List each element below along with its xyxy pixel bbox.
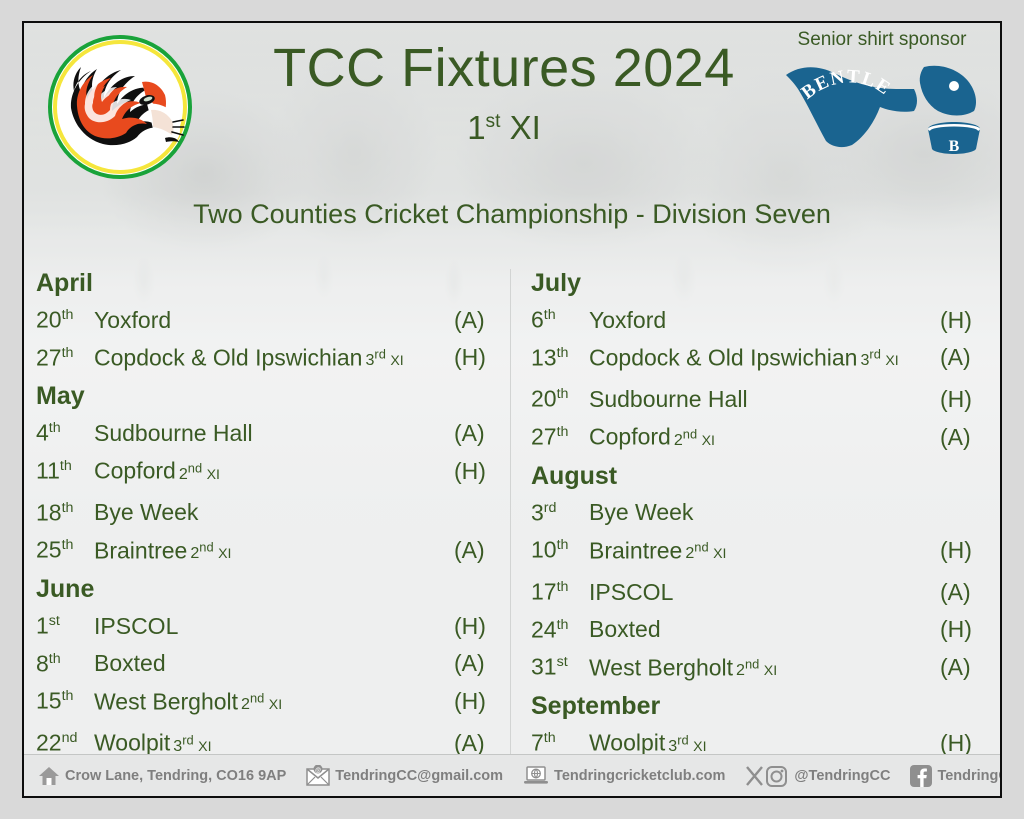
fixture-venue: (H) <box>940 613 986 646</box>
fixture-opponent-team: 3rd XI <box>365 351 403 369</box>
fixture-date: 4th <box>36 412 94 450</box>
fixture-venue: (A) <box>454 304 500 337</box>
fixture-opponent-team: 3rd XI <box>173 737 211 755</box>
month-heading: July <box>531 269 986 298</box>
fixture-date: 13th <box>531 337 589 375</box>
footer-contact-item[interactable]: Tendringcricketclub.com <box>523 765 725 786</box>
fixture-date: 3rd <box>531 492 589 530</box>
fixture-venue: (H) <box>454 455 500 488</box>
fixture-date: 20th <box>531 378 589 416</box>
fixture-venue: (H) <box>454 341 500 374</box>
envelope-icon: @ <box>306 765 335 786</box>
fixture-venue: (H) <box>454 610 500 643</box>
fixture-row: 17thIPSCOL(A) <box>531 571 986 609</box>
fixture-row: 10thBraintree2nd XI(H) <box>531 529 986 571</box>
fixture-row: 25thBraintree2nd XI(A) <box>36 529 500 571</box>
home-icon <box>38 766 65 786</box>
team-ordinal: st <box>486 111 501 132</box>
fixture-date: 6th <box>531 299 589 337</box>
fixture-date: 31st <box>531 646 589 684</box>
fixture-opponent-team: 2nd XI <box>179 465 220 483</box>
fixtures-column-right: July6thYoxford(H)13thCopdock & Old Ipswi… <box>510 269 996 798</box>
fixture-row: 20thSudbourne Hall(H) <box>531 378 986 416</box>
footer-contact-item[interactable]: Crow Lane, Tendring, CO16 9AP <box>38 766 286 786</box>
fixture-venue: (A) <box>454 534 500 567</box>
page-title: TCC Fixtures 2024 <box>204 37 804 99</box>
fixture-row: 13thCopdock & Old Ipswichian3rd XI(A) <box>531 337 986 379</box>
fixture-opponent: West Bergholt2nd XI <box>589 648 940 688</box>
month-heading: June <box>36 575 500 604</box>
fixture-date: 27th <box>36 337 94 375</box>
footer-contact-label: @TendringCC <box>794 768 890 784</box>
contact-footer: Crow Lane, Tendring, CO16 9AP@TendringCC… <box>24 754 1000 796</box>
fixture-venue: (A) <box>454 647 500 680</box>
fixture-opponent: Copford2nd XI <box>589 417 940 457</box>
svg-text:@: @ <box>315 768 321 774</box>
fixture-opponent-team: 2nd XI <box>674 431 715 449</box>
fixtures-column-left: April20thYoxford(A)27thCopdock & Old Ips… <box>24 269 510 798</box>
fixture-row: 6thYoxford(H) <box>531 299 986 337</box>
fixture-date: 11th <box>36 450 94 488</box>
fixture-row: 4thSudbourne Hall(A) <box>36 412 500 450</box>
fixtures-columns: April20thYoxford(A)27thCopdock & Old Ips… <box>24 269 1000 798</box>
fixture-venue: (A) <box>454 417 500 450</box>
team-suffix: XI <box>500 109 540 146</box>
footer-contact-label: TendringCC <box>937 768 1002 784</box>
fixture-date: 10th <box>531 529 589 567</box>
fixture-venue: (A) <box>940 651 986 684</box>
fixture-date: 20th <box>36 299 94 337</box>
fixture-opponent-team: 2nd XI <box>736 661 777 679</box>
fixture-opponent: Yoxford <box>94 304 454 337</box>
fixture-row: 27thCopdock & Old Ipswichian3rd XI(H) <box>36 337 500 379</box>
fixture-opponent: IPSCOL <box>589 576 940 609</box>
fixture-venue: (H) <box>940 383 986 416</box>
team-subtitle: 1st XI <box>204 109 804 147</box>
fixture-opponent: IPSCOL <box>94 610 454 643</box>
fixture-opponent: Boxted <box>589 613 940 646</box>
footer-contact-label: TendringCC@gmail.com <box>335 768 503 784</box>
fixture-opponent: Boxted <box>94 647 454 680</box>
fixture-opponent: Yoxford <box>589 304 940 337</box>
footer-contact-label: Crow Lane, Tendring, CO16 9AP <box>65 768 286 784</box>
fixture-date: 27th <box>531 416 589 454</box>
fixture-venue: (A) <box>940 421 986 454</box>
month-heading: May <box>36 382 500 411</box>
fixture-row: 31stWest Bergholt2nd XI(A) <box>531 646 986 688</box>
sponsor-block: Senior shirt sponsor BENTLEY'S B <box>772 29 992 155</box>
bentleys-sponsor-logo: BENTLEY'S B <box>778 53 986 155</box>
team-number: 1 <box>467 109 485 146</box>
laptop-globe-icon <box>523 765 554 786</box>
footer-contact-item[interactable]: @TendringCC <box>745 765 890 787</box>
fixture-opponent: Braintree2nd XI <box>94 531 454 571</box>
fixtures-poster: TCC Fixtures 2024 1st XI Two Counties Cr… <box>22 21 1002 798</box>
fixture-row: 20thYoxford(A) <box>36 299 500 337</box>
tendring-cricket-club-tiger-logo <box>47 34 193 180</box>
title-block: TCC Fixtures 2024 1st XI <box>204 37 804 147</box>
fixture-row: 15thWest Bergholt2nd XI(H) <box>36 680 500 722</box>
fixture-venue: (H) <box>454 685 500 718</box>
fixture-row: 18thBye Week <box>36 492 500 530</box>
fixture-venue: (H) <box>940 304 986 337</box>
month-heading: August <box>531 462 986 491</box>
sponsor-label: Senior shirt sponsor <box>772 29 992 51</box>
fixture-opponent-team: 2nd XI <box>190 544 231 562</box>
competition-name: Two Counties Cricket Championship - Divi… <box>24 199 1000 230</box>
fixture-opponent: Bye Week <box>589 496 940 529</box>
fixture-date: 24th <box>531 609 589 647</box>
fixture-row: 8thBoxted(A) <box>36 643 500 681</box>
sponsor-bowl-letter: B <box>949 138 960 155</box>
fixture-opponent-team: 2nd XI <box>241 695 282 713</box>
footer-contact-item[interactable]: @TendringCC@gmail.com <box>306 765 503 786</box>
fixture-row: 11thCopford2nd XI(H) <box>36 450 500 492</box>
fixture-date: 8th <box>36 643 94 681</box>
footer-contact-item[interactable]: TendringCC <box>910 765 1002 787</box>
fixture-opponent-team: 2nd XI <box>685 544 726 562</box>
fixture-opponent: Sudbourne Hall <box>589 383 940 416</box>
fixture-venue: (A) <box>940 341 986 374</box>
fixture-opponent-team: 3rd XI <box>860 351 898 369</box>
fixture-opponent: West Bergholt2nd XI <box>94 682 454 722</box>
fixture-opponent-team: 3rd XI <box>668 737 706 755</box>
fixture-date: 1st <box>36 605 94 643</box>
fixture-row: 24thBoxted(H) <box>531 609 986 647</box>
month-heading: April <box>36 269 500 298</box>
fixture-row: 1stIPSCOL(H) <box>36 605 500 643</box>
fixture-row: 3rdBye Week <box>531 492 986 530</box>
month-heading: September <box>531 692 986 721</box>
fixture-date: 15th <box>36 680 94 718</box>
fixture-date: 18th <box>36 492 94 530</box>
fixture-date: 17th <box>531 571 589 609</box>
fixture-venue: (H) <box>940 534 986 567</box>
fixture-opponent: Braintree2nd XI <box>589 531 940 571</box>
fixture-opponent: Sudbourne Hall <box>94 417 454 450</box>
fixture-opponent: Copdock & Old Ipswichian3rd XI <box>94 338 454 378</box>
fixture-opponent: Bye Week <box>94 496 454 529</box>
fixture-opponent: Copford2nd XI <box>94 451 454 491</box>
footer-contact-label: Tendringcricketclub.com <box>554 768 725 784</box>
fixture-opponent: Copdock & Old Ipswichian3rd XI <box>589 338 940 378</box>
facebook-icon <box>910 765 937 787</box>
fixture-venue: (A) <box>940 576 986 609</box>
fixture-row: 27thCopford2nd XI(A) <box>531 416 986 458</box>
x-instagram-icon <box>745 765 794 787</box>
fixture-date: 25th <box>36 529 94 567</box>
